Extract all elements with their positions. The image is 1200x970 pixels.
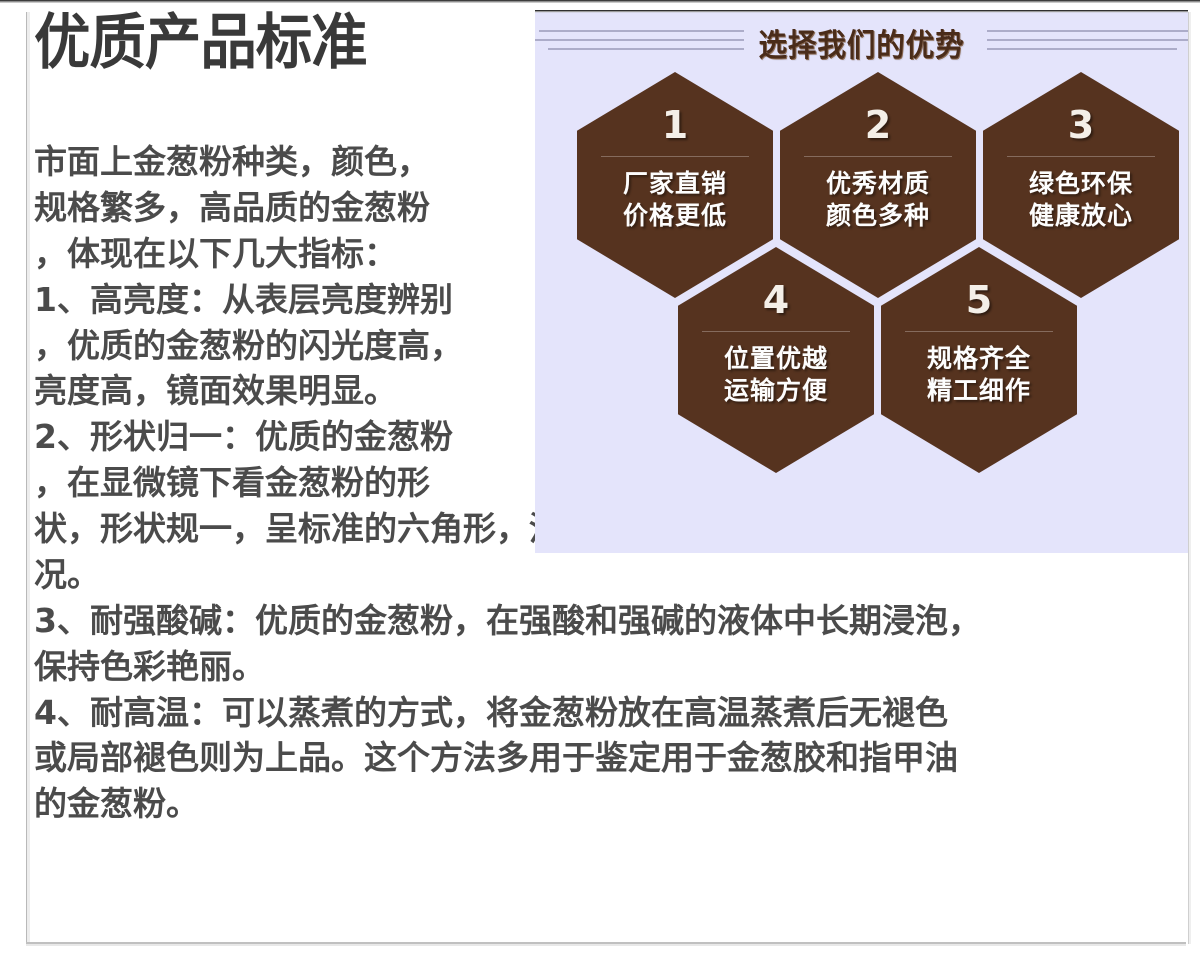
advantage-number: 2	[780, 106, 976, 144]
advantage-text-line2: 精工细作	[891, 375, 1067, 407]
body-line: 1、高亮度：从表层亮度辨别	[34, 278, 526, 323]
advantage-text: 厂家直销 价格更低	[587, 168, 763, 232]
advantage-hexagon-1[interactable]: 1 厂家直销 价格更低	[577, 72, 773, 298]
body-line: ，体现在以下几大指标：	[34, 232, 526, 277]
advantage-text-line1: 规格齐全	[891, 343, 1067, 375]
body-line: ，在显微镜下看金葱粉的形	[34, 461, 526, 506]
page-title: 优质产品标准	[34, 12, 504, 75]
advantages-hexagon-grid: 1 厂家直销 价格更低 2 优秀材质 颜色多种 3 绿色环保	[535, 10, 1188, 553]
advantage-text-line2: 颜色多种	[790, 200, 966, 232]
body-line: 亮度高，镜面效果明显。	[34, 369, 526, 414]
advantage-text-line2: 运输方便	[688, 375, 864, 407]
body-line: 3、耐强酸碱：优质的金葱粉，在强酸和强碱的液体中长期浸泡，	[34, 599, 1174, 644]
advantage-text-line1: 位置优越	[688, 343, 864, 375]
advantages-panel: 选择我们的优势 1 厂家直销 价格更低 2 优秀材质 颜色多种 3	[535, 10, 1188, 553]
advantage-hexagon-3[interactable]: 3 绿色环保 健康放心	[983, 72, 1179, 298]
body-line: 4、耐高温：可以蒸煮的方式，将金葱粉放在高温蒸煮后无褪色	[34, 691, 1174, 736]
advantage-text: 位置优越 运输方便	[688, 343, 864, 407]
advantage-divider	[702, 331, 850, 332]
body-line: 或局部褪色则为上品。这个方法多用于鉴定用于金葱胶和指甲油	[34, 736, 1174, 781]
advantage-text-line1: 优秀材质	[790, 168, 966, 200]
advantage-text: 绿色环保 健康放心	[993, 168, 1169, 232]
advantage-divider	[804, 156, 952, 157]
body-line: ，优质的金葱粉的闪光度高，	[34, 324, 526, 369]
frame-right-border	[1188, 12, 1191, 944]
advantage-text-line1: 厂家直销	[587, 168, 763, 200]
body-line: 规格繁多，高品质的金葱粉	[34, 186, 526, 231]
frame-left-border	[26, 12, 30, 942]
advantage-text: 优秀材质 颜色多种	[790, 168, 966, 232]
advantage-number: 1	[577, 106, 773, 144]
body-line: 保持色彩艳丽。	[34, 645, 1174, 690]
advantage-text: 规格齐全 精工细作	[891, 343, 1067, 407]
advantage-divider	[905, 331, 1053, 332]
body-line: 况。	[34, 553, 1174, 598]
advantage-number: 5	[881, 281, 1077, 319]
frame-bottom-border	[26, 942, 1186, 946]
body-line: 2、形状归一：优质的金葱粉	[34, 415, 526, 460]
advantage-hexagon-2[interactable]: 2 优秀材质 颜色多种	[780, 72, 976, 298]
advantage-number: 3	[983, 106, 1179, 144]
promo-page: 优质产品标准 市面上金葱粉种类，颜色， 规格繁多，高品质的金葱粉 ，体现在以下几…	[0, 0, 1200, 970]
advantage-number: 4	[678, 281, 874, 319]
frame-top-border	[0, 0, 1200, 3]
advantage-text-line2: 健康放心	[993, 200, 1169, 232]
advantage-divider	[1007, 156, 1155, 157]
body-line: 市面上金葱粉种类，颜色，	[34, 140, 526, 185]
advantage-hexagon-5[interactable]: 5 规格齐全 精工细作	[881, 247, 1077, 473]
advantage-text-line2: 价格更低	[587, 200, 763, 232]
advantage-hexagon-4[interactable]: 4 位置优越 运输方便	[678, 247, 874, 473]
body-line: 的金葱粉。	[34, 782, 1174, 827]
advantage-text-line1: 绿色环保	[993, 168, 1169, 200]
advantage-divider	[601, 156, 749, 157]
